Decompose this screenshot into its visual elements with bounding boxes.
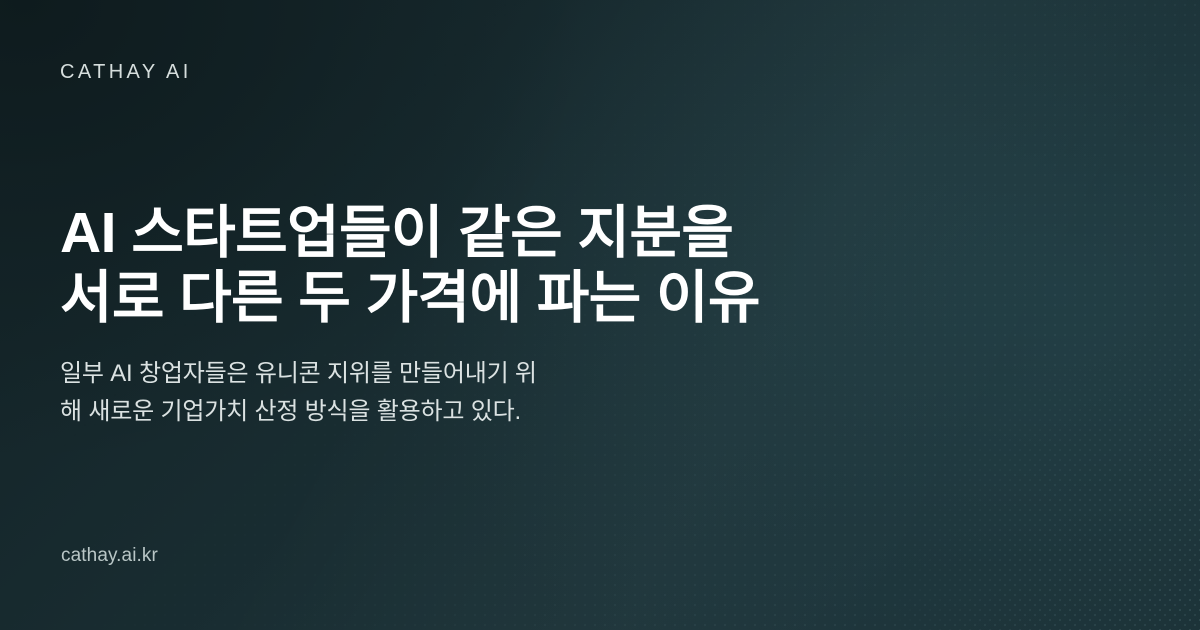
brand-logo-text: CATHAY AI — [60, 62, 192, 82]
card-content: CATHAY AI AI 스타트업들이 같은 지분을 서로 다른 두 가격에 파… — [0, 0, 1200, 630]
footer-website-url: cathay.ai.kr — [61, 543, 158, 570]
share-card: CATHAY AI AI 스타트업들이 같은 지분을 서로 다른 두 가격에 파… — [0, 0, 1200, 630]
headline-title: AI 스타트업들이 같은 지분을 서로 다른 두 가격에 파는 이유 — [60, 201, 1080, 331]
subheadline-text: 일부 AI 창업자들은 유니콘 지위를 만들어내기 위 해 새로운 기업가치 산… — [60, 355, 760, 431]
